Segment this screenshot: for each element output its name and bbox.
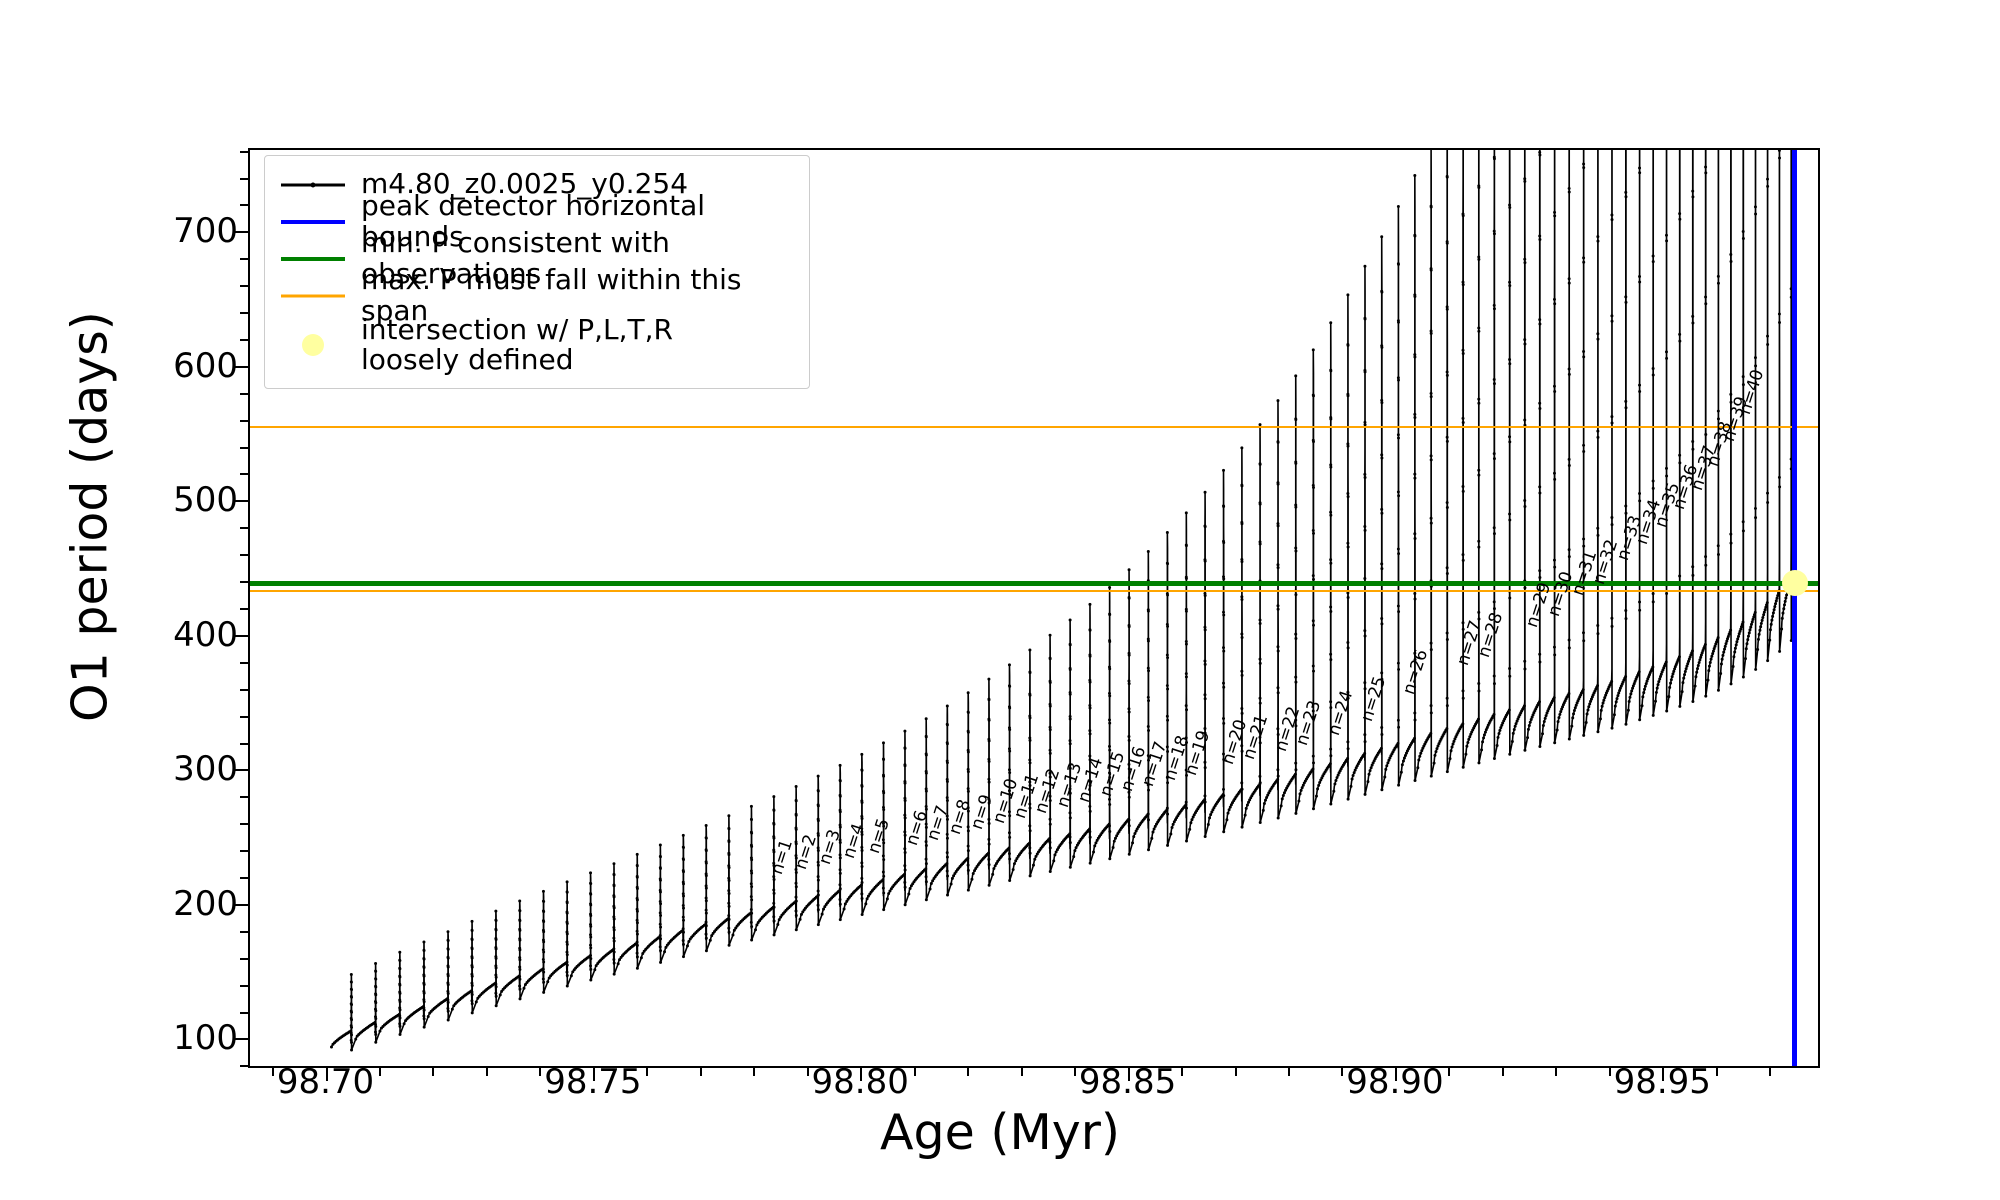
legend-marker-icon: [302, 334, 324, 356]
x-tick-minor: [1555, 1068, 1557, 1076]
x-tick-label: 98.95: [1614, 1062, 1711, 1102]
figure-root: O1 period (days) Age (Myr) 98.7098.7598.…: [0, 0, 2000, 1200]
x-tick-label: 98.70: [277, 1062, 374, 1102]
y-tick-minor: [240, 581, 248, 583]
y-tick-label: 200: [173, 884, 238, 924]
x-tick-label: 98.90: [1346, 1062, 1443, 1102]
y-tick-minor: [240, 716, 248, 718]
x-tick-minor: [700, 1068, 702, 1076]
y-tick-minor: [240, 796, 248, 798]
y-tick-minor: [240, 285, 248, 287]
legend-key-swatch: [277, 244, 349, 274]
x-tick-minor: [486, 1068, 488, 1076]
y-tick-label: 400: [173, 615, 238, 655]
x-tick-minor: [379, 1068, 381, 1076]
reference-line-max-P-upper-bound: [250, 426, 1818, 428]
x-tick-minor: [1502, 1068, 1504, 1076]
x-tick-minor: [1769, 1068, 1771, 1076]
x-tick-label: 98.75: [544, 1062, 641, 1102]
x-tick-minor: [1074, 1068, 1076, 1076]
x-tick-label: 98.85: [1079, 1062, 1176, 1102]
y-tick-label: 500: [173, 480, 238, 520]
y-tick-minor: [240, 1065, 248, 1067]
legend-key-swatch: [277, 281, 349, 311]
x-tick-minor: [1235, 1068, 1237, 1076]
x-tick-minor: [646, 1068, 648, 1076]
x-tick-minor: [539, 1068, 541, 1076]
vertical-bound-peak-detector-right-bound: [1792, 150, 1797, 1066]
legend-key-swatch: [277, 170, 349, 200]
y-tick-minor: [240, 743, 248, 745]
legend-item[interactable]: max. P must fall within this span: [277, 277, 797, 314]
legend-key-swatch: [277, 207, 349, 237]
legend-dot-icon: [311, 182, 316, 187]
x-axis-title: Age (Myr): [0, 1104, 2000, 1161]
y-tick-minor: [240, 850, 248, 852]
y-tick-label: 100: [173, 1018, 238, 1058]
y-tick-minor: [240, 931, 248, 933]
x-tick-minor: [1021, 1068, 1023, 1076]
y-tick-label: 300: [173, 749, 238, 789]
legend-line-icon: [281, 294, 345, 297]
x-tick-minor: [1288, 1068, 1290, 1076]
legend-key-swatch: [277, 330, 349, 360]
y-tick-minor: [240, 958, 248, 960]
y-tick-minor: [240, 473, 248, 475]
y-tick-minor: [240, 527, 248, 529]
y-tick-minor: [240, 447, 248, 449]
y-tick-minor: [240, 689, 248, 691]
x-tick-label: 98.80: [812, 1062, 909, 1102]
y-tick-minor: [240, 312, 248, 314]
x-tick-minor: [914, 1068, 916, 1076]
y-tick-minor: [240, 823, 248, 825]
y-tick-minor: [240, 151, 248, 153]
y-tick-minor: [240, 608, 248, 610]
y-tick-minor: [240, 420, 248, 422]
legend-line-icon: [281, 220, 345, 224]
y-tick-minor: [240, 339, 248, 341]
legend[interactable]: m4.80_z0.0025_y0.254peak detector horizo…: [264, 155, 810, 389]
x-tick-minor: [1609, 1068, 1611, 1076]
y-axis-title: O1 period (days): [62, 117, 119, 917]
legend-label: intersection w/ P,L,T,R loosely defined: [361, 315, 673, 375]
y-tick-label: 700: [173, 211, 238, 251]
y-tick-minor: [240, 393, 248, 395]
y-tick-minor: [240, 985, 248, 987]
y-tick-minor: [240, 204, 248, 206]
x-tick-minor: [272, 1068, 274, 1076]
x-tick-minor: [1181, 1068, 1183, 1076]
x-tick-minor: [807, 1068, 809, 1076]
y-tick-minor: [240, 662, 248, 664]
y-tick-minor: [240, 178, 248, 180]
y-tick-minor: [240, 258, 248, 260]
x-tick-minor: [1341, 1068, 1343, 1076]
x-tick-minor: [967, 1068, 969, 1076]
y-tick-minor: [240, 1012, 248, 1014]
x-tick-minor: [1716, 1068, 1718, 1076]
y-tick-minor: [240, 554, 248, 556]
intersection-marker: [1782, 570, 1808, 596]
x-tick-minor: [432, 1068, 434, 1076]
x-tick-minor: [1448, 1068, 1450, 1076]
x-tick-minor: [753, 1068, 755, 1076]
y-tick-label: 600: [173, 346, 238, 386]
legend-line-icon: [281, 257, 345, 261]
y-tick-minor: [240, 877, 248, 879]
